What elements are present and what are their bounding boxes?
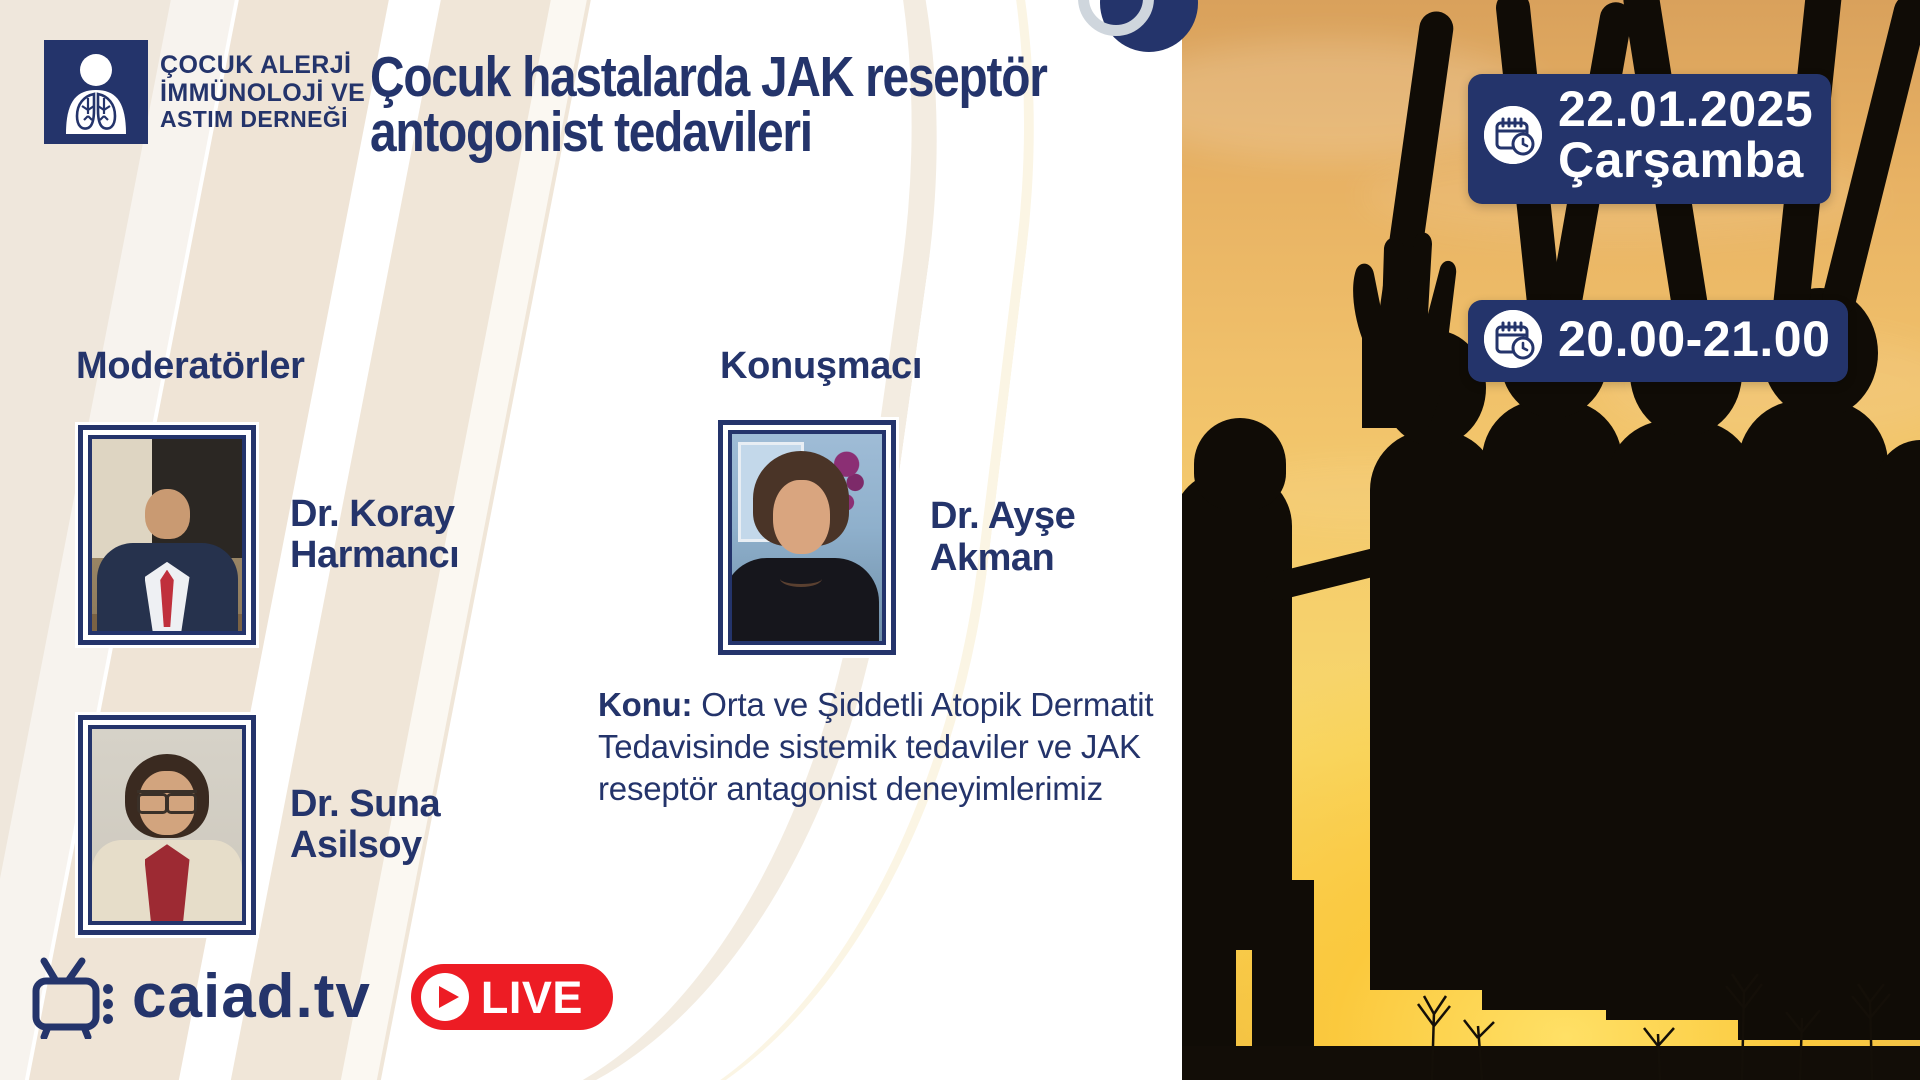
logo-line-1: ÇOCUK ALERJİ <box>160 51 338 79</box>
live-label: LIVE <box>481 975 583 1020</box>
photo-frame <box>78 425 256 645</box>
speaker-card: Dr. Ayşe Akman <box>718 420 1075 655</box>
child-silhouette <box>1370 430 1498 990</box>
moderator-name-line-2: Harmancı <box>290 535 459 576</box>
calendar-clock-icon <box>1484 106 1542 164</box>
moderator-card: Dr. Suna Asilsoy <box>78 715 440 935</box>
live-badge[interactable]: LIVE <box>411 964 613 1030</box>
portrait-ayse-akman <box>728 430 886 645</box>
speaker-name-line-2: Akman <box>930 538 1075 579</box>
topic-label: Konu: <box>598 686 692 723</box>
speaker-name: Dr. Ayşe Akman <box>930 496 1075 578</box>
title-line-2: antogonist tedavileri <box>370 105 1109 160</box>
topic-text: Konu: Orta ve Şiddetli Atopik Dermatit T… <box>598 684 1198 810</box>
photo-frame <box>718 420 896 655</box>
grass-silhouette <box>1182 930 1920 1080</box>
moderators-heading: Moderatörler <box>76 345 305 388</box>
moderator-name: Dr. Koray Harmancı <box>290 494 459 576</box>
portrait-koray-harmanci <box>88 435 246 635</box>
play-icon <box>421 973 469 1021</box>
photo-frame <box>78 715 256 935</box>
title-line-1: Çocuk hastalarda JAK reseptör <box>370 50 1109 105</box>
lungs-torso-icon <box>44 40 148 144</box>
brand-name[interactable]: caiad.tv <box>132 966 371 1028</box>
moderator-name-line-1: Dr. Suna <box>290 784 440 825</box>
event-day: Çarşamba <box>1558 135 1813 186</box>
logo-line-2: İMMÜNOLOJİ VE <box>160 79 338 107</box>
child-silhouette <box>1182 470 1292 950</box>
child-silhouette <box>1482 400 1622 1010</box>
moderator-card: Dr. Koray Harmancı <box>78 425 459 645</box>
speaker-heading: Konuşmacı <box>720 345 922 388</box>
speaker-name-line-1: Dr. Ayşe <box>930 496 1075 537</box>
logo-line-3: ASTIM DERNEĞİ <box>160 107 338 133</box>
logo-wordmark: ÇOCUK ALERJİ İMMÜNOLOJİ VE ASTIM DERNEĞİ <box>160 51 338 133</box>
time-text: 20.00-21.00 <box>1558 314 1830 365</box>
time-badge: 20.00-21.00 <box>1468 300 1848 382</box>
event-date: 22.01.2025 <box>1558 84 1813 135</box>
child-head <box>1194 418 1286 510</box>
brand-footer[interactable]: caiad.tv LIVE <box>30 955 613 1039</box>
television-icon <box>30 955 126 1039</box>
moderator-name: Dr. Suna Asilsoy <box>290 784 440 866</box>
moderator-name-line-2: Asilsoy <box>290 825 440 866</box>
header: ÇOCUK ALERJİ İMMÜNOLOJİ VE ASTIM DERNEĞİ… <box>44 40 1250 159</box>
webinar-poster: ÇOCUK ALERJİ İMMÜNOLOJİ VE ASTIM DERNEĞİ… <box>0 0 1920 1080</box>
association-logo: ÇOCUK ALERJİ İMMÜNOLOJİ VE ASTIM DERNEĞİ <box>44 40 338 144</box>
raised-hand-silhouette <box>1332 228 1462 428</box>
moderator-name-line-1: Dr. Koray <box>290 494 459 535</box>
portrait-suna-asilsoy <box>88 725 246 925</box>
calendar-clock-icon <box>1484 310 1542 368</box>
event-time: 20.00-21.00 <box>1558 314 1830 365</box>
date-badge: 22.01.2025 Çarşamba <box>1468 74 1831 204</box>
page-title: Çocuk hastalarda JAK reseptör antogonist… <box>370 40 1109 159</box>
date-text: 22.01.2025 Çarşamba <box>1558 84 1813 186</box>
